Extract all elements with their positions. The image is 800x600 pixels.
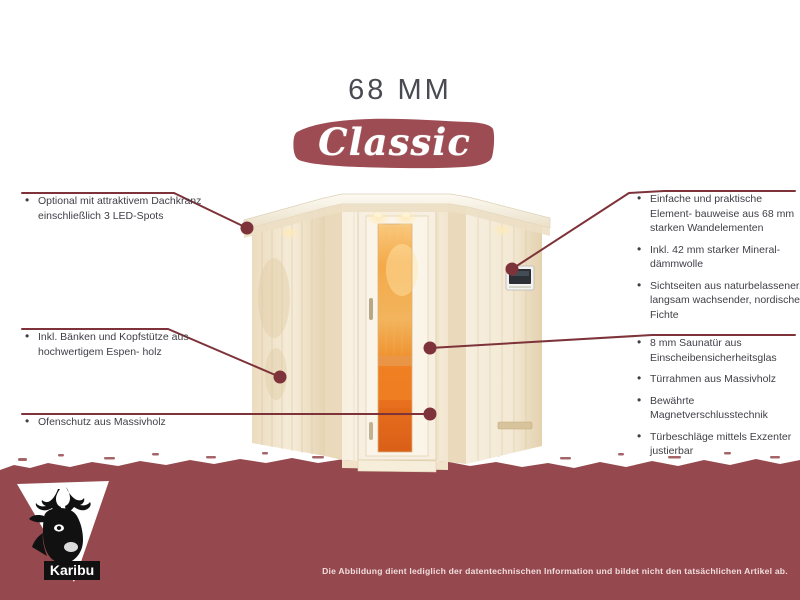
callout-list: Ofenschutz aus Massivholz bbox=[24, 415, 214, 430]
sauna-base bbox=[342, 460, 448, 472]
sauna-control-panel bbox=[506, 266, 534, 290]
header: 68 MM Classic bbox=[0, 0, 800, 180]
product-infographic: 68 MM Classic bbox=[0, 0, 800, 600]
list-item: Sichtseiten aus naturbelassener, langsam… bbox=[636, 279, 800, 323]
sauna-corner-facet bbox=[325, 202, 342, 460]
callout-benches: Inkl. Bänken und Kopfstütze aus hochwert… bbox=[24, 330, 214, 366]
sauna-glass-door bbox=[378, 224, 418, 452]
sauna-vent bbox=[498, 422, 532, 429]
list-item: Türbeschläge mittels Exzenter justierbar bbox=[636, 430, 800, 459]
page-title: 68 MM bbox=[0, 74, 800, 107]
product-line-banner: Classic bbox=[292, 116, 497, 171]
list-item: Türrahmen aus Massivholz bbox=[636, 372, 800, 387]
logo-wordmark: Karibu bbox=[50, 562, 94, 578]
callout-list: Einfache und praktische Element- bauweis… bbox=[636, 192, 800, 322]
disclaimer-text: Die Abbildung dient lediglich der datent… bbox=[320, 566, 790, 576]
callout-heater-guard: Ofenschutz aus Massivholz bbox=[24, 415, 214, 437]
deer-muzzle bbox=[64, 542, 78, 552]
list-item: Bewährte Magnetverschlusstechnik bbox=[636, 394, 800, 423]
callout-list: Optional mit attraktivem Dachkranz einsc… bbox=[24, 194, 214, 223]
list-item: Ofenschutz aus Massivholz bbox=[24, 415, 214, 430]
list-item: 8 mm Saunatür aus Einscheibensicherheits… bbox=[636, 336, 800, 365]
callout-roof-crown: Optional mit attraktivem Dachkranz einsc… bbox=[24, 194, 214, 230]
callout-door: 8 mm Saunatür aus Einscheibensicherheits… bbox=[636, 336, 800, 466]
product-line-label: Classic bbox=[292, 116, 497, 171]
callout-element-construction: Einfache und praktische Element- bauweis… bbox=[636, 192, 800, 329]
list-item: Einfache und praktische Element- bauweis… bbox=[636, 192, 800, 236]
callout-list: 8 mm Saunatür aus Einscheibensicherheits… bbox=[636, 336, 800, 459]
callout-list: Inkl. Bänken und Kopfstütze aus hochwert… bbox=[24, 330, 214, 359]
brand-logo: Karibu bbox=[14, 478, 119, 586]
product-image-sauna bbox=[230, 178, 560, 478]
sauna-left-wall bbox=[252, 206, 325, 456]
list-item: Optional mit attraktivem Dachkranz einsc… bbox=[24, 194, 214, 223]
list-item: Inkl. Bänken und Kopfstütze aus hochwert… bbox=[24, 330, 214, 359]
list-item: Inkl. 42 mm starker Mineral- dämmwolle bbox=[636, 243, 800, 272]
